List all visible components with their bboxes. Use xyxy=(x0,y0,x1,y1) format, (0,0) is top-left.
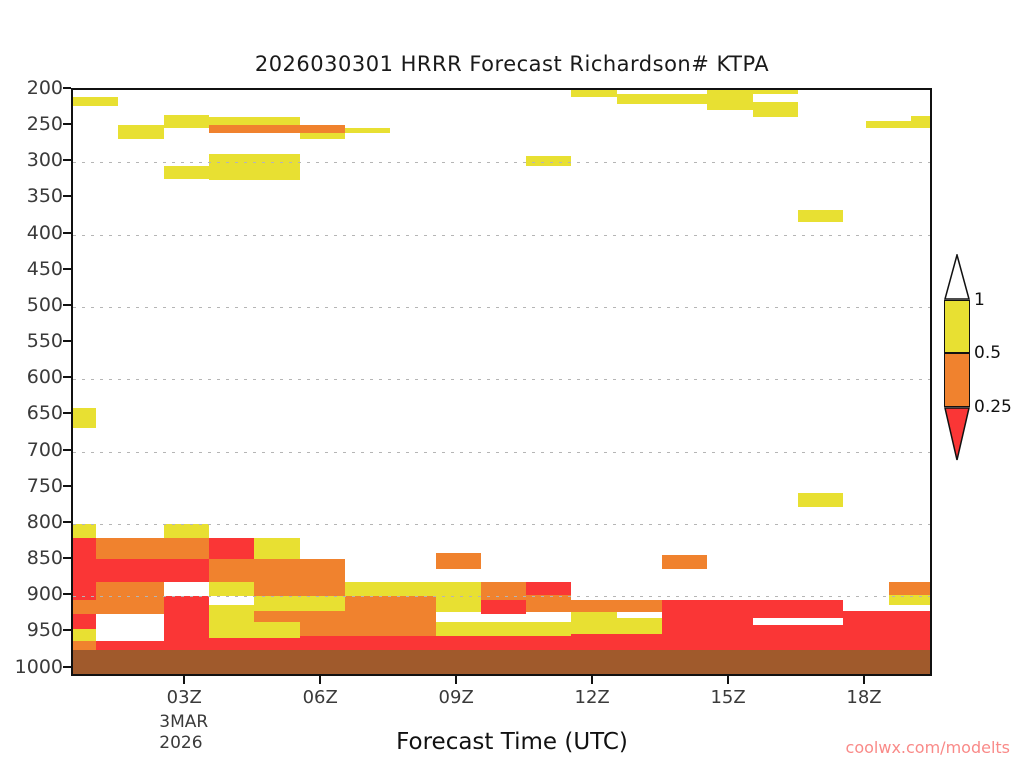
y-axis-tick-label: 900 xyxy=(5,583,63,605)
y-axis-tick-label: 250 xyxy=(5,113,63,135)
heatmap-cell xyxy=(209,622,300,639)
heatmap-cell xyxy=(73,538,96,581)
x-axis-tick-label: 09Z xyxy=(416,687,496,708)
heatmap-cell xyxy=(164,524,209,538)
heatmap-cell xyxy=(436,622,572,636)
y-axis-tick xyxy=(63,195,71,197)
heatmap-cell xyxy=(571,90,616,97)
heatmap-cell xyxy=(436,596,481,612)
y-axis-tick-label: 950 xyxy=(5,619,63,641)
heatmap-cell xyxy=(209,117,300,124)
y-axis-tick-label: 700 xyxy=(5,439,63,461)
heatmap-cell xyxy=(753,600,844,618)
footer-credit: coolwx.com/modelts xyxy=(846,738,1010,757)
heatmap-cell xyxy=(345,582,390,596)
y-axis-tick xyxy=(63,521,71,523)
heatmap-cell xyxy=(571,600,662,612)
y-axis-tick xyxy=(63,485,71,487)
x-axis-tick-label: 15Z xyxy=(688,687,768,708)
heatmap-cell xyxy=(209,154,300,181)
y-axis-tick xyxy=(63,376,71,378)
heatmap-cell xyxy=(300,133,345,139)
heatmap-cell xyxy=(164,596,209,616)
heatmap-cell xyxy=(73,582,96,600)
y-axis-tick-label: 1000 xyxy=(5,656,63,678)
colorbar-label: 1 xyxy=(974,290,985,310)
heatmap-cell xyxy=(254,596,345,610)
heatmap-cell xyxy=(662,600,753,618)
heatmap-cell xyxy=(843,611,930,625)
plot-area xyxy=(71,88,932,676)
colorbar-segment xyxy=(944,300,970,353)
y-axis-tick-label: 350 xyxy=(5,185,63,207)
chart-page: 2026030301 HRRR Forecast Richardson# KTP… xyxy=(0,0,1024,768)
y-axis-tick xyxy=(63,666,71,668)
heatmap-cell xyxy=(526,595,571,612)
y-axis-tick-label: 600 xyxy=(5,366,63,388)
y-axis-tick xyxy=(63,232,71,234)
heatmap-cell xyxy=(753,90,798,94)
heatmap-cell xyxy=(798,493,843,507)
terrain-band xyxy=(73,650,930,674)
heatmap-cell xyxy=(911,116,930,128)
y-axis-tick xyxy=(63,449,71,451)
heatmap-cell xyxy=(436,582,481,596)
heatmap-cell xyxy=(889,582,930,595)
heatmap-cell xyxy=(209,538,254,558)
heatmap-cell xyxy=(209,582,254,596)
colorbar-segment xyxy=(944,353,970,407)
y-axis-tick xyxy=(63,159,71,161)
x-axis-tick xyxy=(183,676,185,684)
heatmap-cell xyxy=(753,102,798,118)
x-axis-tick-label: 06Z xyxy=(280,687,360,708)
y-axis-tick xyxy=(63,87,71,89)
y-axis-tick-label: 550 xyxy=(5,330,63,352)
heatmap-cell xyxy=(345,596,436,616)
heatmap-cell xyxy=(164,166,209,179)
heatmap-cells xyxy=(73,90,930,674)
heatmap-cell xyxy=(526,582,571,595)
heatmap-cell xyxy=(118,125,163,139)
y-axis-tick xyxy=(63,629,71,631)
y-axis-tick-label: 850 xyxy=(5,547,63,569)
heatmap-cell xyxy=(73,600,96,614)
heatmap-cell xyxy=(164,617,209,642)
heatmap-cell xyxy=(73,97,118,106)
y-axis-tick xyxy=(63,593,71,595)
y-axis-tick xyxy=(63,123,71,125)
heatmap-cell xyxy=(300,559,345,582)
x-axis-tick-label: 03Z xyxy=(144,687,224,708)
heatmap-cell xyxy=(209,605,254,622)
y-axis-tick-label: 450 xyxy=(5,258,63,280)
heatmap-cell xyxy=(73,524,96,538)
heatmap-cell xyxy=(662,555,707,569)
heatmap-cell xyxy=(571,618,662,634)
heatmap-cell xyxy=(866,121,911,128)
heatmap-cell xyxy=(96,559,164,582)
colorbar-arrow-upper-outline xyxy=(944,254,970,300)
heatmap-cell xyxy=(96,582,164,615)
y-axis-tick-label: 200 xyxy=(5,77,63,99)
y-axis-tick-label: 800 xyxy=(5,511,63,533)
heatmap-cell xyxy=(73,629,96,641)
heatmap-cell xyxy=(436,553,481,569)
heatmap-cell xyxy=(889,595,930,605)
y-axis-tick-label: 750 xyxy=(5,475,63,497)
heatmap-cell xyxy=(481,582,526,600)
heatmap-cell xyxy=(662,618,753,638)
heatmap-cell xyxy=(209,125,345,134)
heatmap-cell xyxy=(390,582,435,596)
y-axis-tick xyxy=(63,412,71,414)
heatmap-cell xyxy=(73,614,96,628)
x-axis-tick xyxy=(319,676,321,684)
heatmap-cell xyxy=(300,617,436,637)
heatmap-cell xyxy=(96,614,164,641)
y-axis-tick xyxy=(63,304,71,306)
heatmap-cell xyxy=(798,210,843,222)
heatmap-cell xyxy=(164,538,209,558)
heatmap-cell xyxy=(209,596,254,605)
x-axis-tick-label: 18Z xyxy=(824,687,904,708)
heatmap-cell xyxy=(96,538,164,558)
heatmap-cell xyxy=(843,600,888,611)
colorbar-label: 0.25 xyxy=(974,397,1012,417)
heatmap-cell xyxy=(164,559,209,582)
y-axis-tick-label: 300 xyxy=(5,149,63,171)
colorbar: 10.50.25 xyxy=(944,300,970,460)
chart-title: 2026030301 HRRR Forecast Richardson# KTP… xyxy=(0,52,1024,76)
heatmap-cell xyxy=(73,408,96,428)
y-axis-tick-label: 650 xyxy=(5,402,63,424)
heatmap-cell xyxy=(707,90,752,110)
x-axis-tick xyxy=(727,676,729,684)
x-axis-tick-label: 12Z xyxy=(552,687,632,708)
y-axis-tick xyxy=(63,268,71,270)
x-axis-tick xyxy=(863,676,865,684)
x-axis-tick xyxy=(591,676,593,684)
heatmap-cell xyxy=(254,582,345,596)
heatmap-cell xyxy=(164,115,209,128)
heatmap-cell xyxy=(526,156,571,166)
heatmap-cell xyxy=(345,128,390,133)
heatmap-cell xyxy=(209,559,300,582)
y-axis-tick-label: 500 xyxy=(5,294,63,316)
heatmap-cell xyxy=(481,600,526,614)
colorbar-label: 0.5 xyxy=(974,343,1001,363)
heatmap-cell xyxy=(617,94,708,103)
y-axis-tick xyxy=(63,340,71,342)
y-axis-tick xyxy=(63,557,71,559)
y-axis-tick-label: 400 xyxy=(5,222,63,244)
colorbar-arrow-lower xyxy=(944,407,970,461)
x-axis-tick xyxy=(455,676,457,684)
